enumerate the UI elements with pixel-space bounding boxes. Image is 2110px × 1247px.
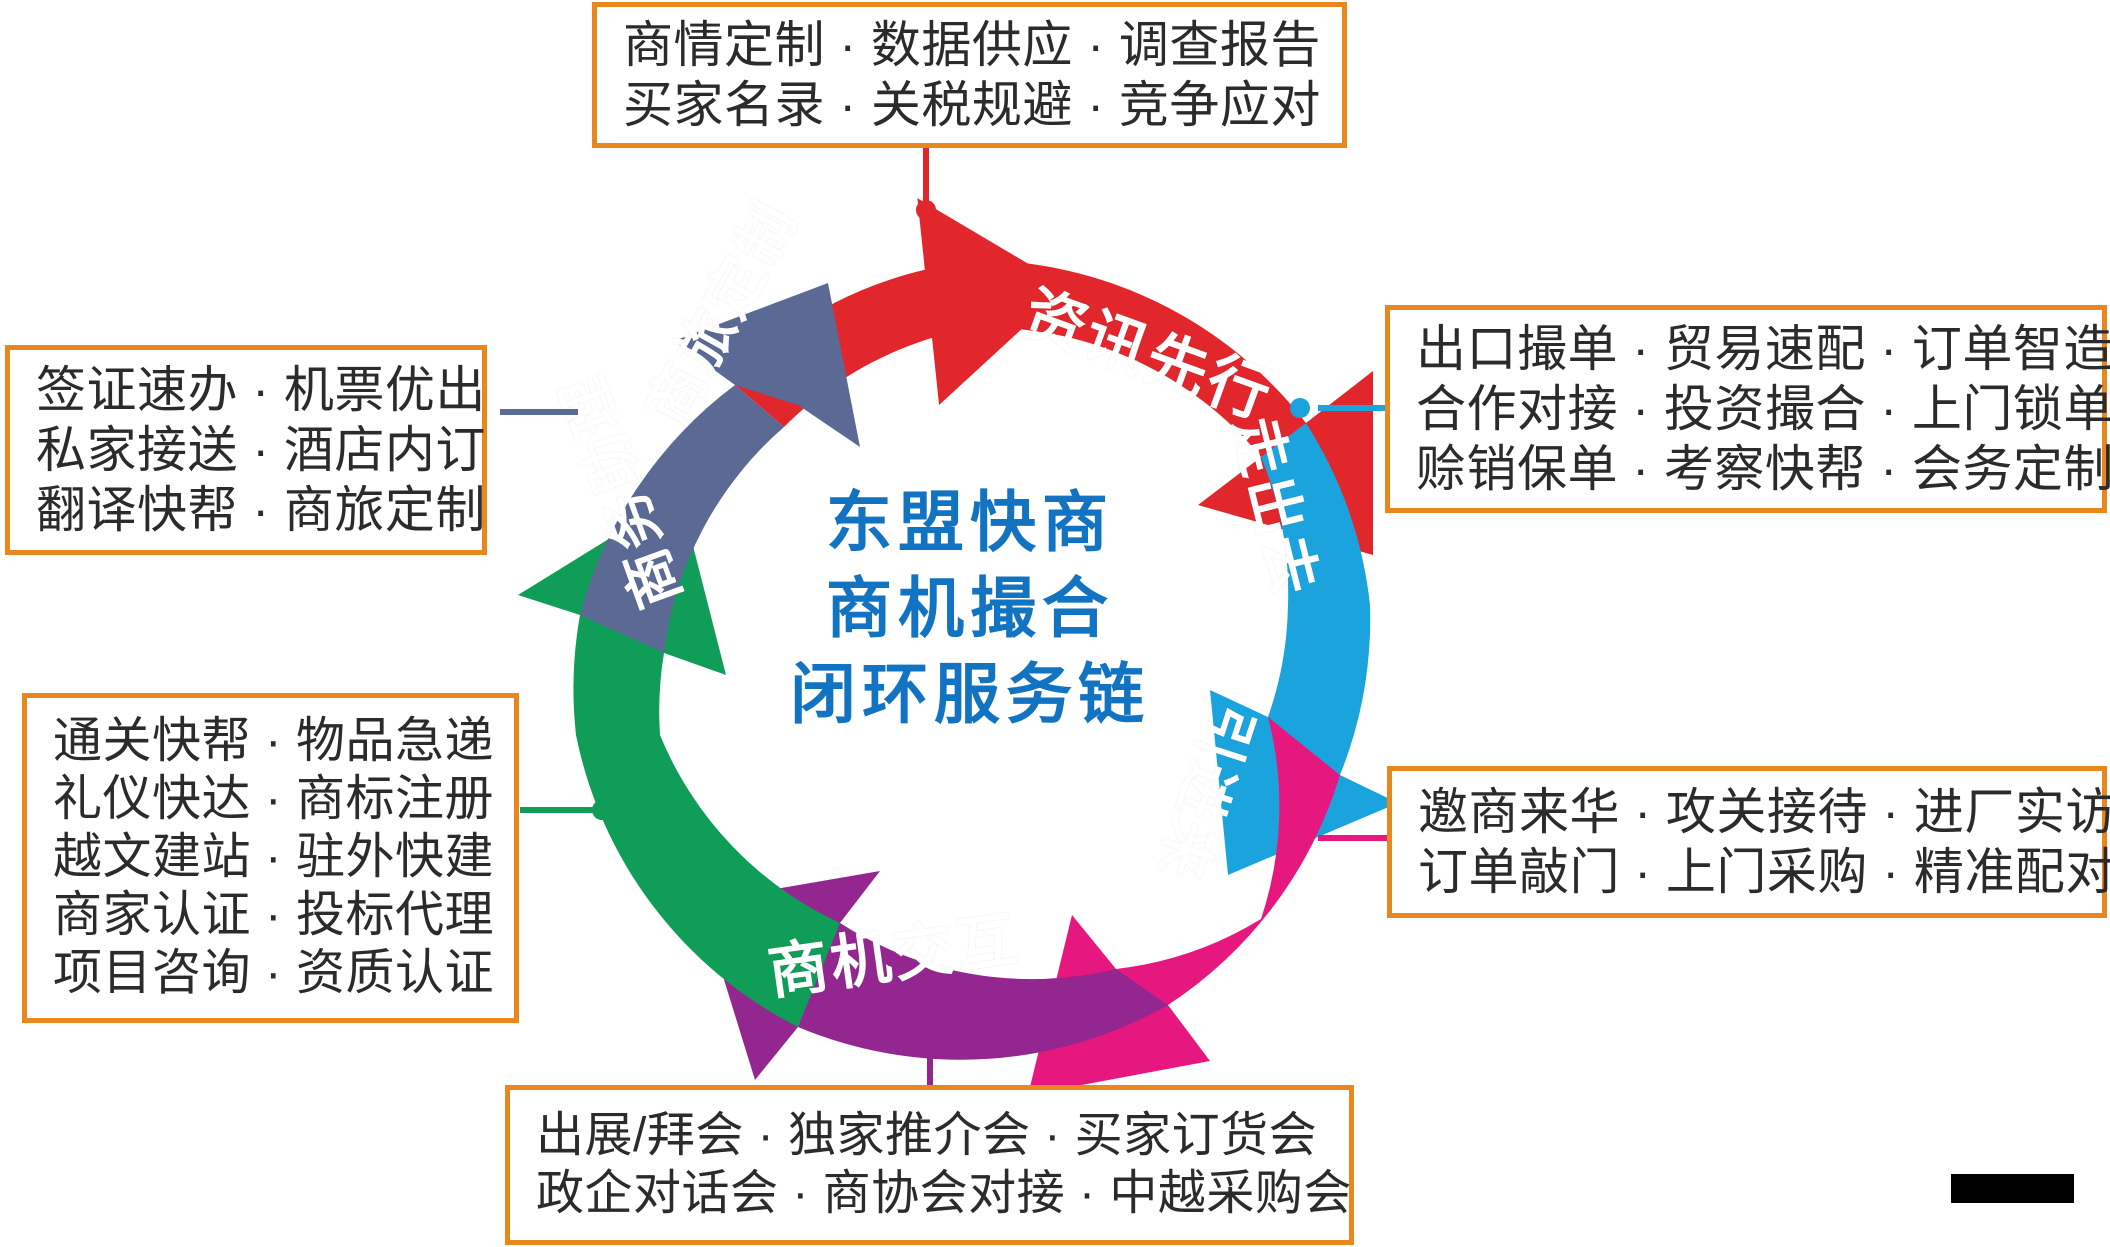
callout-top-line-2: 买家名录 · 关税规避 · 竞争应对 xyxy=(623,75,1316,135)
callout-right-bottom-line-2: 订单敲门 · 上门采购 · 精准配对 xyxy=(1418,842,2076,902)
connector-left-top xyxy=(500,406,590,418)
segment-travel[interactable] xyxy=(580,283,860,653)
callout-left-top-line-3: 翻译快帮 · 商旅定制 xyxy=(36,480,456,540)
callout-right-top-line-3: 赊销保单 · 考察快帮 · 会务定制 xyxy=(1416,439,2076,499)
corner-marker xyxy=(1951,1174,2074,1203)
callout-left-bottom[interactable]: 通关快帮 · 物品急递 礼仪快达 · 商标注册 越文建站 · 驻外快建 商家认证… xyxy=(22,693,519,1023)
callout-top[interactable]: 商情定制 · 数据供应 · 调查报告 买家名录 · 关税规避 · 竞争应对 xyxy=(592,2,1347,148)
callout-right-bottom-line-1: 邀商来华 · 攻关接待 · 进厂实访 xyxy=(1418,782,2076,842)
callout-left-top-line-2: 私家接送 · 酒店内订 xyxy=(36,420,456,480)
infographic-canvas: 资讯先行 走出去 引进来 商机交互 商务助理 商旅定制 东盟快商 商机撮合 闭环… xyxy=(0,0,2110,1247)
callout-bottom[interactable]: 出展/拜会 · 独家推介会 · 买家订货会 政企对话会 · 商协会对接 · 中越… xyxy=(505,1085,1354,1245)
cycle-wheel: 资讯先行 走出去 引进来 商机交互 商务助理 商旅定制 xyxy=(468,175,1478,1185)
callout-left-top[interactable]: 签证速办 · 机票优出 私家接送 · 酒店内订 翻译快帮 · 商旅定制 xyxy=(5,345,487,555)
callout-top-line-1: 商情定制 · 数据供应 · 调查报告 xyxy=(623,15,1316,75)
connector-left-bottom xyxy=(520,800,620,820)
callout-bottom-line-2: 政企对话会 · 商协会对接 · 中越采购会 xyxy=(536,1165,1323,1223)
callout-left-bottom-line-1: 通关快帮 · 物品急递 xyxy=(53,713,488,771)
callout-left-bottom-line-3: 越文建站 · 驻外快建 xyxy=(53,829,488,887)
callout-left-bottom-line-4: 商家认证 · 投标代理 xyxy=(53,887,488,945)
connector-right-top xyxy=(1290,398,1388,418)
callout-right-top[interactable]: 出口撮单 · 贸易速配 · 订单智造 合作对接 · 投资撮合 · 上门锁单 赊销… xyxy=(1385,305,2107,513)
callout-left-bottom-line-2: 礼仪快达 · 商标注册 xyxy=(53,771,488,829)
callout-bottom-line-1: 出展/拜会 · 独家推介会 · 买家订货会 xyxy=(536,1107,1323,1165)
callout-right-top-line-1: 出口撮单 · 贸易速配 · 订单智造 xyxy=(1416,319,2076,379)
callout-left-top-line-1: 签证速办 · 机票优出 xyxy=(36,360,456,420)
callout-right-bottom[interactable]: 邀商来华 · 攻关接待 · 进厂实访 订单敲门 · 上门采购 · 精准配对 xyxy=(1387,766,2107,918)
callout-right-top-line-2: 合作对接 · 投资撮合 · 上门锁单 xyxy=(1416,379,2076,439)
cycle-wheel-svg xyxy=(468,175,1478,1185)
connector-top xyxy=(916,148,936,222)
connector-bottom xyxy=(920,985,940,1089)
connector-right-bottom xyxy=(1290,828,1390,848)
callout-left-bottom-line-5: 项目咨询 · 资质认证 xyxy=(53,945,488,1003)
